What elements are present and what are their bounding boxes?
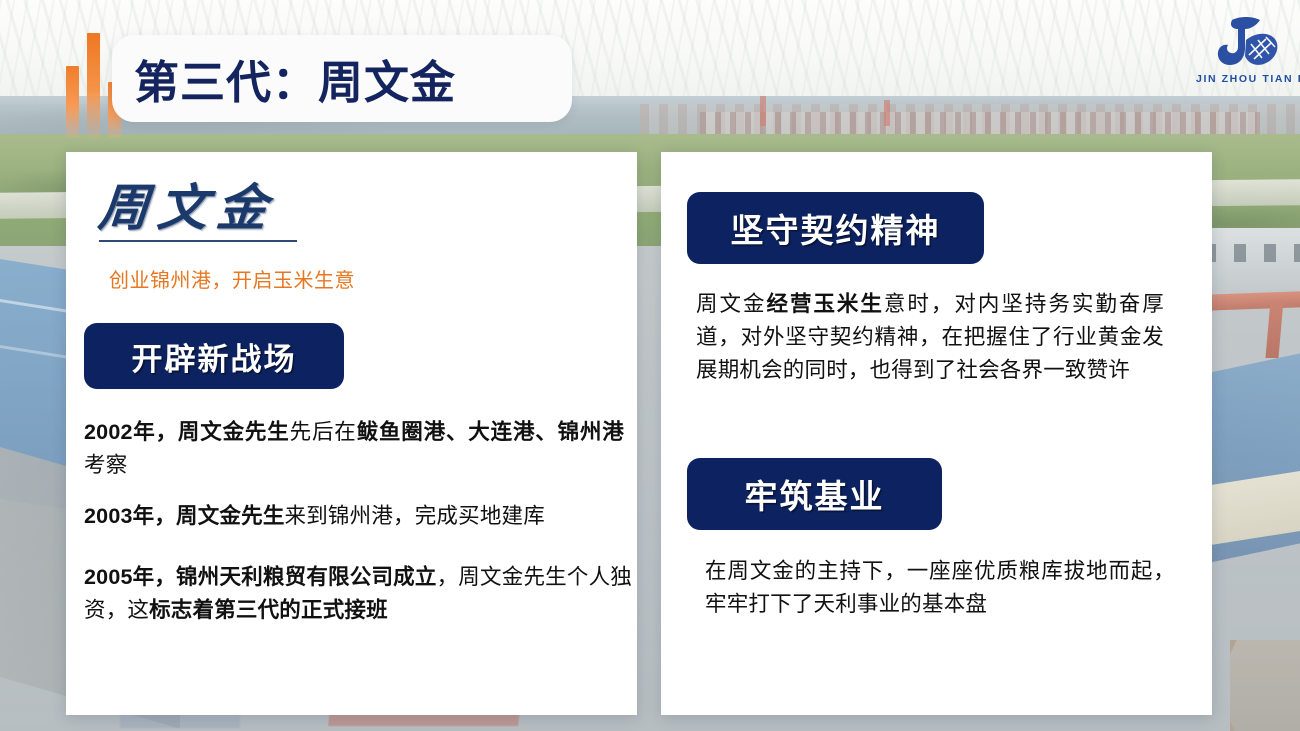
badge-build-foundation: 牢筑基业 [687,458,942,530]
page-title: 第三代：周文金 [134,46,456,111]
badge-open-new-battlefield: 开辟新战场 [84,323,344,389]
badge-keep-contract-spirit: 坚守契约精神 [687,192,984,264]
left-paragraph-2: 2003年，周文金先生来到锦州港，完成买地建库 [84,500,624,533]
right-paragraph-1: 周文金经营玉米生意时，对内坚持务实勤奋厚道，对外坚守契约精神，在把握住了行业黄金… [696,288,1164,387]
orange-bar-1 [66,66,79,138]
logo-text: JIN ZHOU TIAN LI [1196,73,1292,85]
right-paragraph-2: 在周文金的主持下，一座座优质粮库拔地而起，牢牢打下了天利事业的基本盘 [705,555,1175,621]
left-subtitle: 创业锦州港，开启玉米生意 [109,264,355,293]
right-content-panel: 坚守契约精神 周文金经营玉米生意时，对内坚持务实勤奋厚道，对外坚守契约精神，在把… [661,152,1212,715]
slide-canvas: 第三代：周文金 JIN ZHOU TIAN LI 周文金 创业锦州港，开启玉米生… [0,0,1300,731]
tianli-corn-logo-icon [1196,14,1292,72]
left-paragraph-1: 2002年，周文金先生先后在鲅鱼圈港、大连港、锦州港考察 [84,416,624,482]
person-name: 周文金 [96,168,279,240]
company-logo: JIN ZHOU TIAN LI [1196,14,1292,98]
orange-bar-2 [87,33,100,138]
title-pill: 第三代：周文金 [112,35,572,122]
left-paragraph-3: 2005年，锦州天利粮贸有限公司成立，周文金先生个人独资，这标志着第三代的正式接… [84,561,632,627]
name-divider [99,240,297,242]
left-content-panel: 周文金 创业锦州港，开启玉米生意 开辟新战场 2002年，周文金先生先后在鲅鱼圈… [66,152,637,715]
